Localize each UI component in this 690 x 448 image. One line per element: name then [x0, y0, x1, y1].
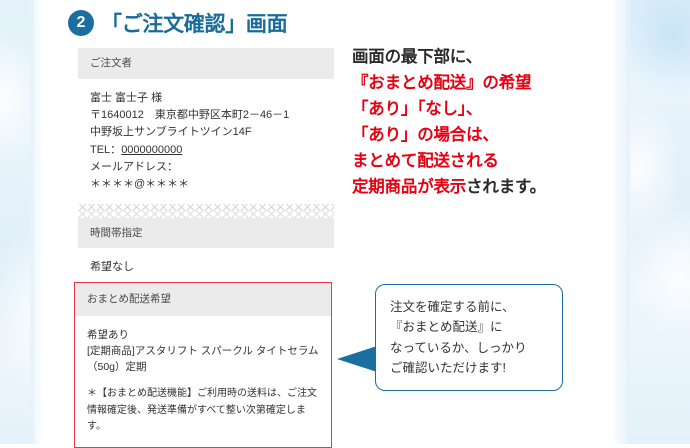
instruction-line-6-red: 定期商品が表示 [352, 178, 466, 196]
orderer-email-label: メールアドレス： [90, 159, 322, 176]
orderer-tel: TEL：0000000000 [90, 142, 322, 159]
orderer-address-line2: 中野坂上サンブライトツイン14F [90, 124, 322, 141]
bundle-note: ＊【おまとめ配送機能】ご利用時の送料は、ご注文情報確定後、発送準備がすべて整い次… [87, 386, 319, 435]
instruction-text: 画面の最下部に、 『おまとめ配送』の希望 「あり」「なし」、 「あり」の場合は、… [352, 44, 652, 200]
speech-bubble-tail-icon [337, 346, 377, 372]
page-heading: 2 「ご注文確認」画面 [68, 8, 287, 38]
bundle-status: 希望あり [87, 327, 319, 343]
bubble-line-4: ご確認いただけます! [390, 358, 549, 378]
orderer-section-body: 富士 富士子 様 〒1640012 東京都中野区本町2－46－1 中野坂上サンブ… [78, 79, 334, 204]
orderer-address-line1: 〒1640012 東京都中野区本町2－46－1 [90, 107, 322, 124]
orderer-tel-label: TEL： [90, 144, 121, 156]
instruction-line-5: まとめて配送される [352, 148, 652, 174]
bundle-section-header: おまとめ配送希望 [75, 283, 331, 316]
instruction-line-6: 定期商品が表示されます。 [352, 174, 652, 200]
time-section-value: 希望なし [90, 259, 322, 276]
content-stage: 2 「ご注文確認」画面 ご注文者 富士 富士子 様 〒1640012 東京都中野… [0, 0, 690, 444]
bubble-line-3: なっているか、しっかり [390, 338, 549, 358]
instruction-line-3: 「あり」「なし」、 [352, 96, 652, 122]
orderer-section-header: ご注文者 [78, 48, 334, 79]
bundle-delivery-highlight-block: おまとめ配送希望 希望あり [定期商品]アスタリフト スパークル タイトセラム（… [74, 282, 332, 448]
time-section-header: 時間帯指定 [78, 218, 334, 249]
instruction-line-6-dark: されます。 [466, 178, 546, 196]
instruction-line-1: 画面の最下部に、 [352, 44, 652, 70]
instruction-line-2: 『おまとめ配送』の希望 [352, 70, 652, 96]
orderer-name: 富士 富士子 様 [90, 90, 322, 107]
order-confirmation-screen-mock: ご注文者 富士 富士子 様 〒1640012 東京都中野区本町2－46－1 中野… [78, 48, 334, 287]
page-title: 「ご注文確認」画面 [101, 8, 287, 38]
orderer-email-value: ＊＊＊＊@＊＊＊＊ [90, 176, 322, 193]
bubble-line-2: 『おまとめ配送』に [390, 317, 549, 337]
instruction-line-4: 「あり」の場合は、 [352, 122, 652, 148]
bubble-line-1: 注文を確定する前に、 [390, 297, 549, 317]
torn-paper-divider [78, 204, 334, 218]
speech-bubble-callout: 注文を確定する前に、 『おまとめ配送』に なっているか、しっかり ご確認いただけ… [375, 284, 563, 391]
bundle-section-body: 希望あり [定期商品]アスタリフト スパークル タイトセラム（50g）定期 ＊【… [75, 316, 331, 447]
orderer-tel-value: 0000000000 [121, 144, 182, 156]
step-number-badge: 2 [68, 10, 94, 36]
bundle-product: [定期商品]アスタリフト スパークル タイトセラム（50g）定期 [87, 343, 319, 376]
